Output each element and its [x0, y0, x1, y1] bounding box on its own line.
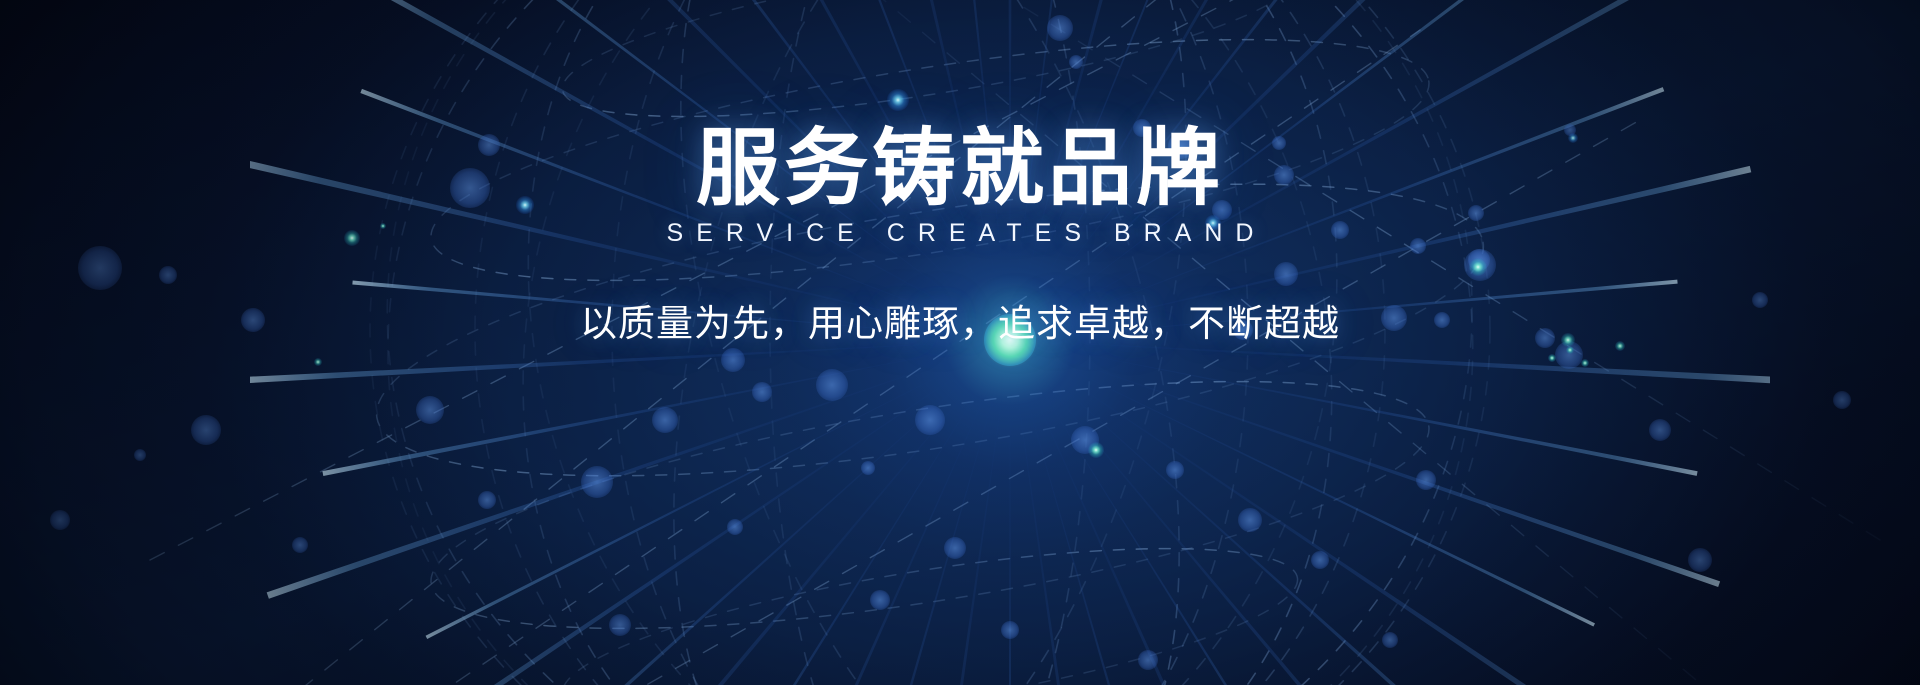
vignette-overlay — [0, 0, 1920, 685]
hero-banner: 服务铸就品牌 SERVICE CREATES BRAND 以质量为先，用心雕琢，… — [0, 0, 1920, 685]
